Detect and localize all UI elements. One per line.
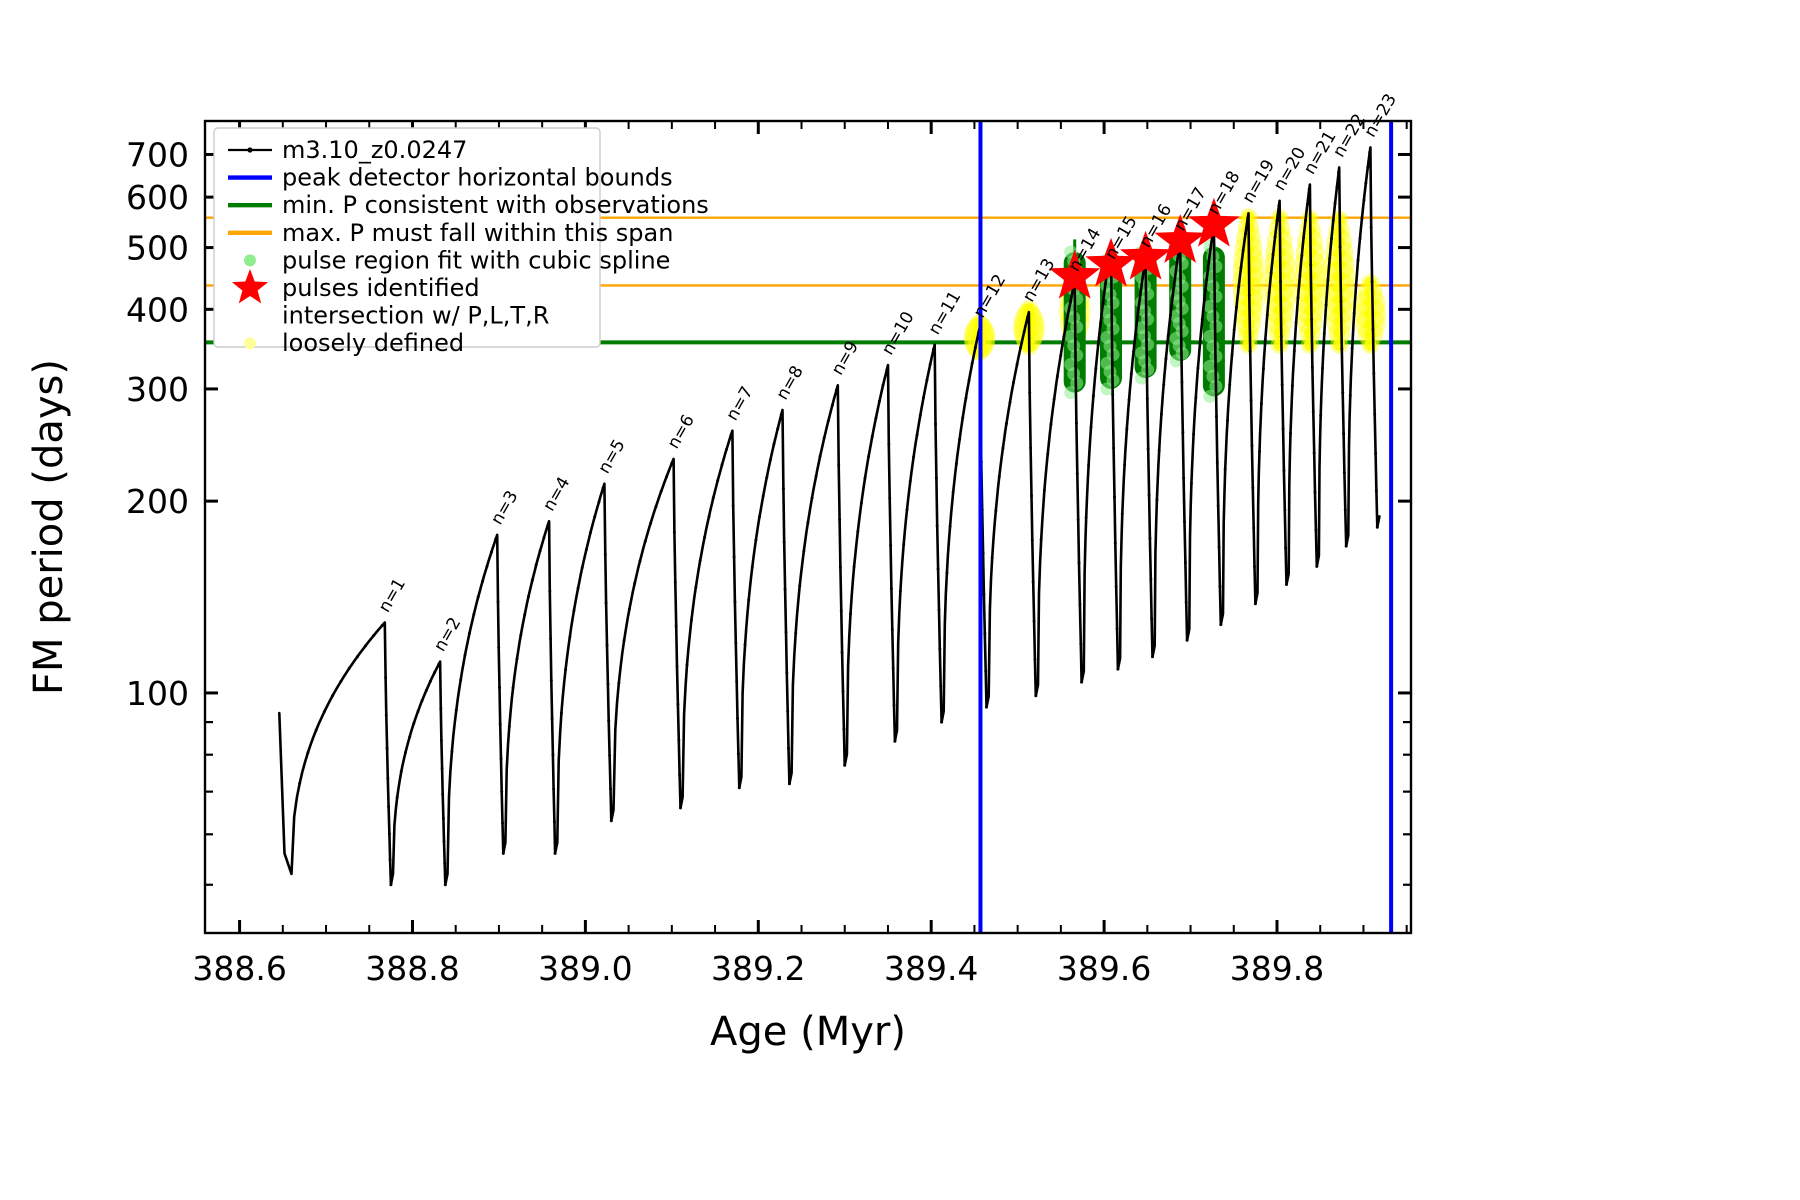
legend-label-0: m3.10_z0.0247 bbox=[282, 136, 467, 164]
y-axis-title: FM period (days) bbox=[26, 359, 72, 695]
chart-svg: n=1n=2n=3n=4n=5n=6n=7n=8n=9n=10n=11n=12n… bbox=[0, 0, 1800, 1200]
legend-swatch-dot bbox=[247, 147, 252, 152]
legend-label-2: min. P consistent with observations bbox=[282, 191, 709, 219]
figure-canvas: n=1n=2n=3n=4n=5n=6n=7n=8n=9n=10n=11n=12n… bbox=[0, 0, 1800, 1200]
xtick-label: 388.6 bbox=[192, 949, 286, 988]
legend-label-3: max. P must fall within this span bbox=[282, 219, 673, 247]
ytick-label: 200 bbox=[126, 482, 189, 521]
xtick-label: 388.8 bbox=[365, 949, 459, 988]
xtick-label: 389.6 bbox=[1057, 949, 1151, 988]
legend-label-5: pulses identified bbox=[282, 274, 480, 302]
legend-swatch-dot bbox=[244, 254, 256, 266]
ytick-label: 300 bbox=[126, 370, 189, 409]
xtick-label: 389.2 bbox=[711, 949, 805, 988]
legend-swatch-dot bbox=[244, 337, 256, 349]
ytick-label: 400 bbox=[126, 290, 189, 329]
legend-label-7: loosely defined bbox=[282, 329, 464, 357]
ytick-label: 700 bbox=[126, 136, 189, 175]
ytick-label: 500 bbox=[126, 229, 189, 268]
legend-label-4: pulse region fit with cubic spline bbox=[282, 246, 670, 274]
ytick-label: 100 bbox=[126, 674, 189, 713]
xtick-label: 389.0 bbox=[538, 949, 632, 988]
xtick-label: 389.8 bbox=[1230, 949, 1324, 988]
ytick-label: 600 bbox=[126, 178, 189, 217]
legend-label-1: peak detector horizontal bounds bbox=[282, 164, 673, 192]
legend-label-6: intersection w/ P,L,T,R bbox=[282, 302, 549, 330]
xtick-label: 389.4 bbox=[884, 949, 978, 988]
x-axis-title: Age (Myr) bbox=[710, 1009, 906, 1055]
